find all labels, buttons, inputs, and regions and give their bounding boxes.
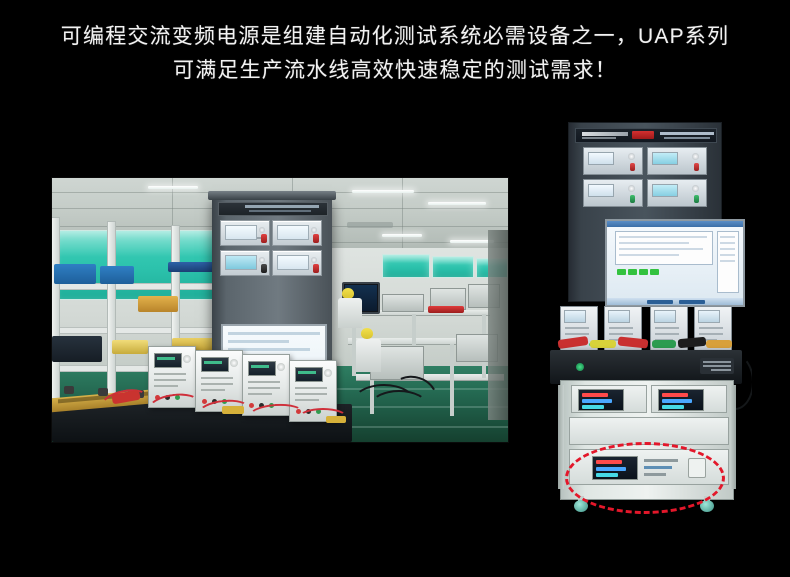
rack-instrument — [220, 220, 270, 246]
rack-instrument — [272, 250, 322, 276]
test-rack-photo — [540, 118, 752, 530]
meter-panel — [571, 385, 647, 413]
factory-line-photo — [52, 178, 508, 442]
shelving-unit — [52, 328, 228, 333]
rack-instrument — [583, 147, 643, 175]
green-partition — [432, 256, 474, 278]
promo-banner: 可编程交流变频电源是组建自动化测试系统必需设备之一，UAP系列 可满足生产流水线… — [0, 0, 790, 577]
rack-instrument — [647, 147, 707, 175]
headline: 可编程交流变频电源是组建自动化测试系统必需设备之一，UAP系列 可满足生产流水线… — [0, 20, 790, 88]
green-partition — [382, 254, 430, 278]
blank-panel — [569, 417, 729, 445]
caster-wheel — [700, 496, 714, 512]
storage-bin — [138, 296, 178, 312]
rack-header-label — [575, 128, 717, 143]
red-part-tray — [428, 306, 464, 313]
meter-panel — [651, 385, 727, 413]
headline-line-1: 可编程交流变频电源是组建自动化测试系统必需设备之一，UAP系列 — [61, 25, 729, 48]
shelving-unit — [52, 284, 228, 289]
worker — [338, 288, 364, 328]
storage-bin — [52, 336, 102, 362]
storage-bin — [112, 340, 148, 354]
rack-instrument — [220, 250, 270, 276]
rack-lower-body — [560, 380, 734, 500]
rack-instrument — [272, 220, 322, 246]
rack-instrument — [583, 179, 643, 207]
cabinet-label — [218, 202, 328, 216]
storage-bin — [100, 266, 134, 284]
worker — [356, 328, 382, 372]
rack-upper-body — [568, 122, 722, 302]
control-pc-display — [605, 219, 745, 307]
digital-meter — [578, 389, 624, 411]
caster-wheel — [574, 496, 588, 512]
equipment-box — [382, 294, 424, 312]
power-indicator — [576, 363, 584, 371]
brand-badge — [632, 131, 654, 139]
mainframe-unit — [550, 350, 742, 384]
rack-instrument — [647, 179, 707, 207]
digital-meter — [658, 389, 704, 411]
headline-line-2: 可满足生产流水线高效快速稳定的测试需求！ — [0, 54, 790, 88]
digital-meter — [592, 456, 638, 480]
programmable-ac-source-unit — [569, 449, 729, 485]
storage-bin — [54, 264, 96, 284]
